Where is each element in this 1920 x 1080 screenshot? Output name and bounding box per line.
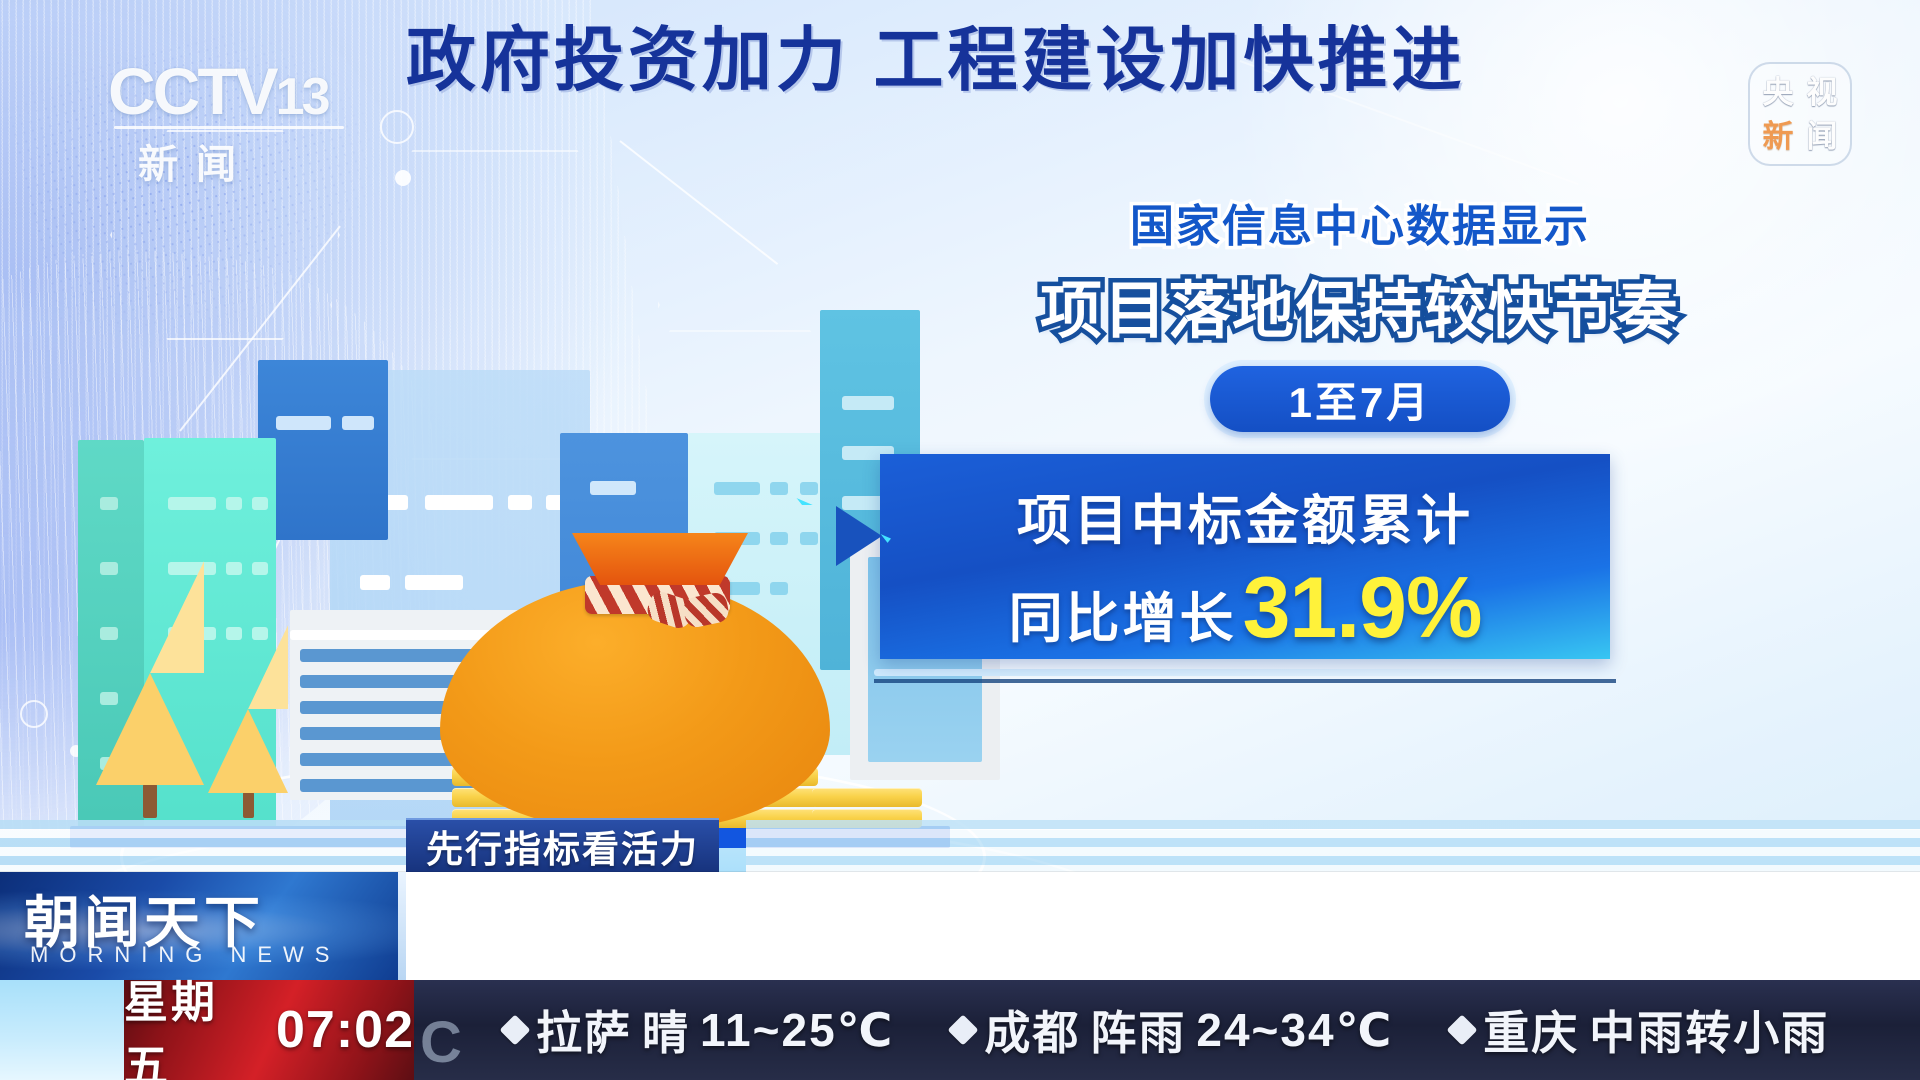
data-box: 项目中标金额累计 同比增长 31.9% (880, 454, 1610, 659)
diamond-bullet-icon (499, 1014, 530, 1045)
weather-city: 重庆 (1483, 997, 1579, 1063)
diamond-bullet-icon (948, 1014, 979, 1045)
time-box: 星期五 07:02 (124, 980, 414, 1080)
growth-value: 31.9% (1243, 559, 1482, 658)
data-box-underline (874, 669, 1616, 676)
clock-label: 07:02 (276, 1000, 414, 1060)
weather-item: 重庆 中雨转小雨 (1451, 997, 1839, 1063)
graphic-headline-line: 项目落地保持较快节奏 (860, 260, 1860, 350)
program-name-en: MORNING NEWS (30, 942, 340, 968)
program-signature-edge (398, 872, 406, 980)
cctv-channel-number: 13 (276, 68, 328, 126)
cctv-news-logo: 央 视 新 闻 (1748, 62, 1852, 166)
weather-temp: 11~25℃ (700, 1003, 894, 1057)
data-graphic: 国家信息中心数据显示 项目落地保持较快节奏 1至7月 项目中标金额累计 同比增长… (860, 190, 1860, 683)
weather-city: 成都 (984, 997, 1080, 1063)
dot-icon (395, 170, 411, 186)
weekday-label: 星期五 (124, 966, 254, 1080)
broadcast-screen: CCTV13 新闻 央 视 新 闻 国家信息中心数据显示 项目落地保持较快节奏 … (0, 0, 1920, 1080)
tree-icon (96, 673, 204, 818)
accent-line (619, 140, 778, 265)
data-box-underline-shadow (874, 679, 1616, 683)
news-logo-char-3: 新 (1763, 121, 1794, 152)
news-logo-char-2: 视 (1807, 77, 1838, 108)
weather-items: 拉萨 晴 11~25℃ 成都 阵雨 24~34℃ 重庆 中雨转小雨 (470, 980, 1839, 1080)
cctv-logo-cn: 新闻 (108, 132, 358, 190)
headline-text: 政府投资加力 工程建设加快推进 (406, 4, 1465, 105)
kicker-label: 先行指标看活力 (426, 819, 699, 873)
weather-condition: 晴 (642, 997, 690, 1063)
tree-icon (208, 709, 288, 818)
period-pill: 1至7月 (1210, 366, 1510, 432)
circle-outline-icon (380, 110, 414, 144)
news-logo-char-4: 闻 (1807, 121, 1838, 152)
kicker-strip-left (0, 820, 406, 872)
diamond-bullet-icon (1447, 1014, 1478, 1045)
graphic-source-line: 国家信息中心数据显示 (860, 190, 1860, 254)
weather-condition: 中雨转小雨 (1589, 997, 1829, 1063)
news-logo-char-1: 央 (1763, 77, 1794, 108)
cctv-wordmark: CCTV (108, 54, 276, 128)
cctv-logo-text: CCTV13 (108, 58, 358, 124)
kicker-box: 先行指标看活力 (406, 818, 719, 872)
weather-temp: 24~34℃ (1196, 1003, 1393, 1057)
kicker-strip-right (746, 820, 1920, 872)
growth-label: 同比增长 (1009, 574, 1237, 653)
data-box-label: 项目中标金额累计 (880, 454, 1610, 555)
weather-item: 拉萨 晴 11~25℃ (504, 997, 894, 1063)
data-box-value-row: 同比增长 31.9% (880, 559, 1610, 658)
weather-city: 拉萨 (536, 997, 632, 1063)
weather-condition: 阵雨 (1090, 997, 1186, 1063)
weather-item: 成都 阵雨 24~34℃ (952, 997, 1393, 1063)
ticker-left-cap (0, 980, 124, 1080)
ticker-partial-unit: C (420, 1009, 462, 1076)
money-bag-top (572, 533, 748, 585)
period-pill-label: 1至7月 (1289, 369, 1432, 430)
program-signature: 朝闻天下 MORNING NEWS (0, 872, 406, 980)
cctv13-logo: CCTV13 新闻 (108, 58, 358, 178)
